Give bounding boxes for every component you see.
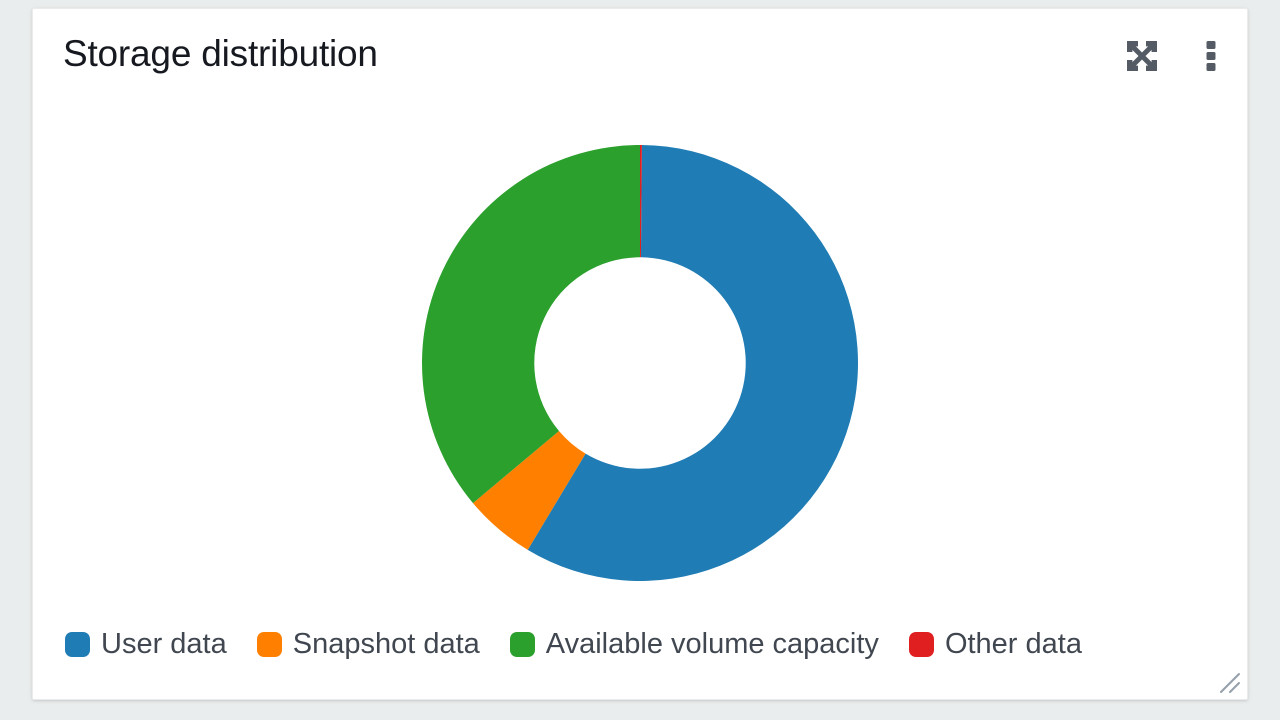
legend-item-label: User data [101, 627, 227, 661]
page-title: Storage distribution [63, 31, 378, 77]
legend-item-label: Available volume capacity [546, 627, 879, 661]
donut-chart: User data: 58.1%Snapshot data: 5.3%Avail… [420, 143, 860, 583]
legend-swatch-icon [65, 632, 90, 657]
more-options-button[interactable] [1205, 39, 1217, 73]
header-actions [1125, 31, 1217, 73]
legend-swatch-icon [909, 632, 934, 657]
more-options-icon [1205, 39, 1217, 73]
legend-item-snapshot-data[interactable]: Snapshot data [257, 627, 480, 661]
donut-slice-available-volume-capacity[interactable]: Available volume capacity: 36.1% [422, 145, 640, 503]
legend-item-other-data[interactable]: Other data [909, 627, 1082, 661]
storage-distribution-widget: Storage distribution [32, 8, 1248, 700]
legend-item-available-volume-capacity[interactable]: Available volume capacity [510, 627, 879, 661]
widget-header: Storage distribution [33, 9, 1247, 105]
expand-button[interactable] [1125, 39, 1159, 73]
chart-area: User data: 58.1%Snapshot data: 5.3%Avail… [33, 105, 1247, 621]
resize-handle[interactable] [1217, 670, 1243, 696]
legend-swatch-icon [257, 632, 282, 657]
chart-legend: User dataSnapshot dataAvailable volume c… [33, 627, 1247, 661]
legend-item-user-data[interactable]: User data [65, 627, 227, 661]
expand-icon [1125, 39, 1159, 73]
legend-item-label: Other data [945, 627, 1082, 661]
legend-item-label: Snapshot data [293, 627, 480, 661]
legend-swatch-icon [510, 632, 535, 657]
